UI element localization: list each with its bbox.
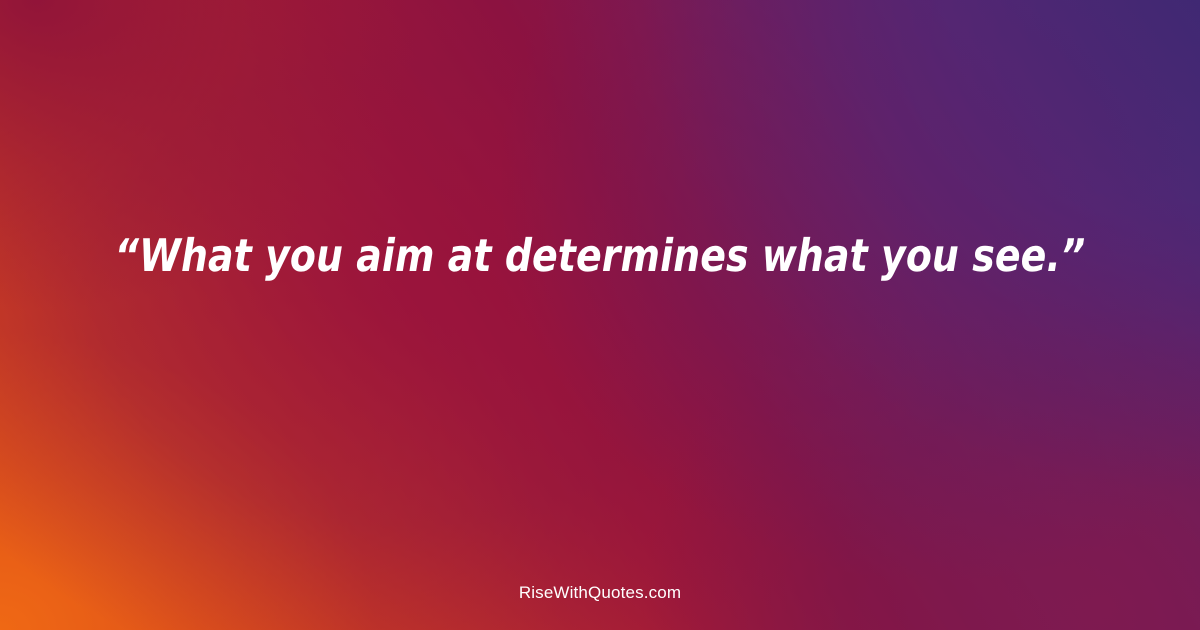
quote-card: “What you aim at determines what you see… (0, 0, 1200, 630)
card-content: “What you aim at determines what you see… (0, 0, 1200, 630)
site-credit: RiseWithQuotes.com (0, 583, 1200, 603)
quote-text: “What you aim at determines what you see… (39, 226, 1161, 286)
